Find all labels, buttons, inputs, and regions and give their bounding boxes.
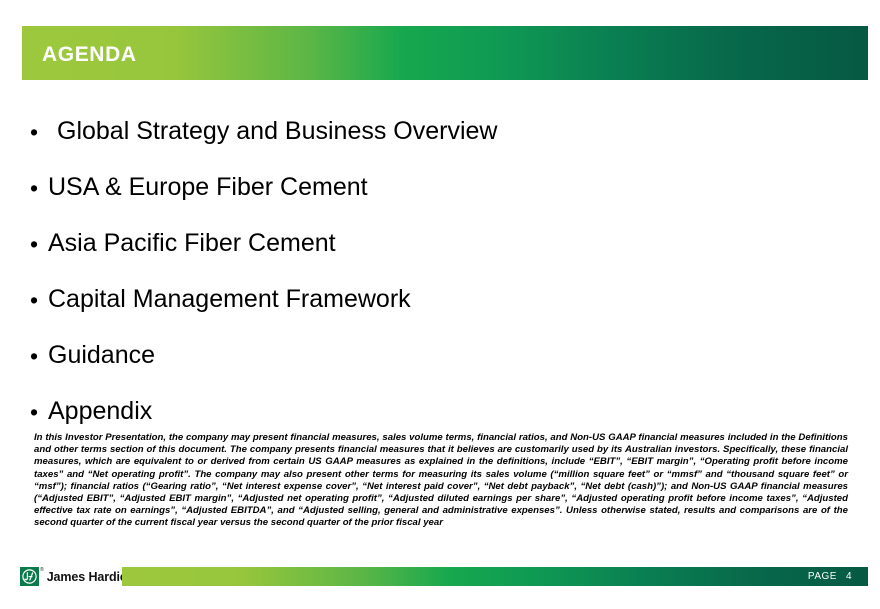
agenda-list: • Global Strategy and Business Overview …: [0, 104, 880, 440]
disclaimer-text: In this Investor Presentation, the compa…: [34, 432, 848, 530]
bullet-icon: •: [30, 233, 48, 256]
bullet-icon: •: [30, 289, 48, 312]
page-indicator: PAGE 4: [808, 567, 852, 586]
bullet-icon: •: [30, 121, 48, 144]
james-hardie-monogram-icon: [20, 567, 39, 586]
page-label: PAGE: [808, 571, 837, 582]
page-number: 4: [846, 571, 852, 582]
bullet-icon: •: [30, 177, 48, 200]
agenda-item-global-strategy[interactable]: • Global Strategy and Business Overview: [0, 104, 880, 160]
slide: AGENDA • Global Strategy and Business Ov…: [0, 0, 880, 609]
agenda-item-usa-europe[interactable]: • USA & Europe Fiber Cement: [0, 160, 880, 216]
agenda-item-capital-management[interactable]: • Capital Management Framework: [0, 272, 880, 328]
brand-name: James Hardie: [47, 570, 127, 584]
agenda-item-label: USA & Europe Fiber Cement: [48, 174, 368, 202]
agenda-item-label: Capital Management Framework: [48, 286, 411, 314]
agenda-item-label: Asia Pacific Fiber Cement: [48, 230, 336, 258]
bullet-icon: •: [30, 345, 48, 368]
bullet-icon: •: [30, 401, 48, 424]
registered-trademark-symbol: ®: [40, 567, 44, 573]
header-banner: [22, 26, 868, 80]
page-title: AGENDA: [42, 44, 137, 65]
agenda-item-guidance[interactable]: • Guidance: [0, 328, 880, 384]
agenda-item-label: Guidance: [48, 342, 155, 370]
agenda-item-label: Appendix: [48, 398, 152, 426]
footer-banner: PAGE 4: [122, 567, 868, 586]
agenda-item-asia-pacific[interactable]: • Asia Pacific Fiber Cement: [0, 216, 880, 272]
footer-logo: ® James Hardie: [20, 566, 127, 587]
agenda-item-label: Global Strategy and Business Overview: [48, 118, 498, 146]
